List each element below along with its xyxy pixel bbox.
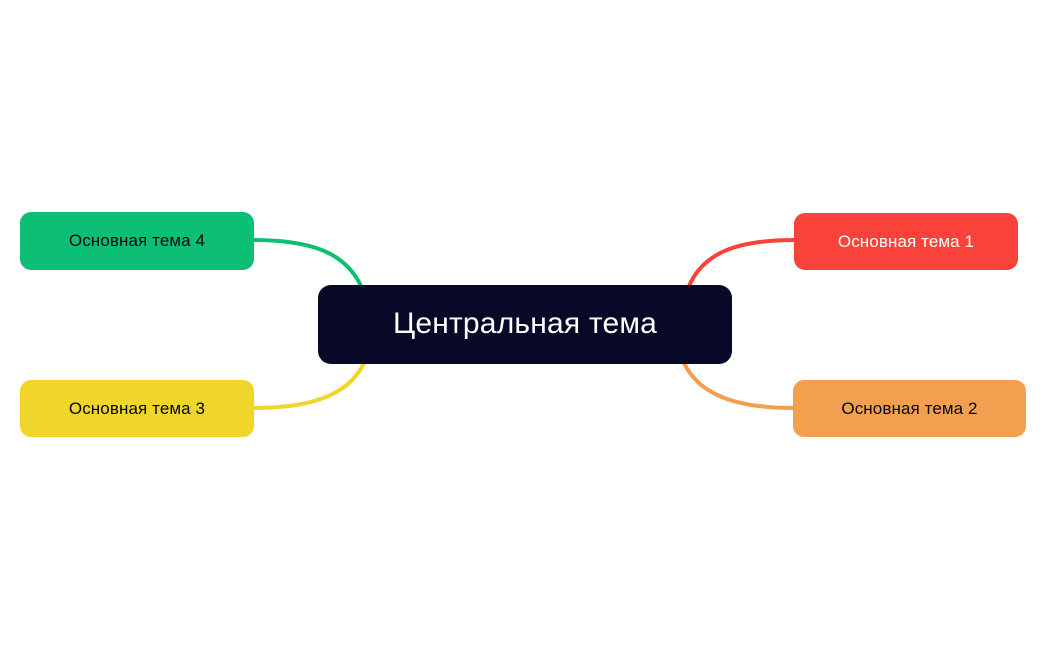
connector-topic-1 <box>689 240 795 286</box>
connector-topic-3 <box>253 363 364 408</box>
branch-node-topic-1[interactable]: Основная тема 1 <box>794 213 1018 270</box>
central-node-label: Центральная тема <box>393 307 657 342</box>
branch-node-label: Основная тема 1 <box>838 232 974 252</box>
branch-node-topic-4[interactable]: Основная тема 4 <box>20 212 254 270</box>
connector-topic-2 <box>684 363 794 408</box>
branch-node-label: Основная тема 2 <box>841 399 977 419</box>
branch-node-topic-3[interactable]: Основная тема 3 <box>20 380 254 437</box>
central-node[interactable]: Центральная тема <box>318 285 732 364</box>
branch-node-label: Основная тема 4 <box>69 231 205 251</box>
branch-node-label: Основная тема 3 <box>69 399 205 419</box>
connector-topic-4 <box>253 240 361 286</box>
branch-node-topic-2[interactable]: Основная тема 2 <box>793 380 1026 437</box>
mindmap-canvas: Основная тема 4 Основная тема 3 Централь… <box>0 0 1047 650</box>
